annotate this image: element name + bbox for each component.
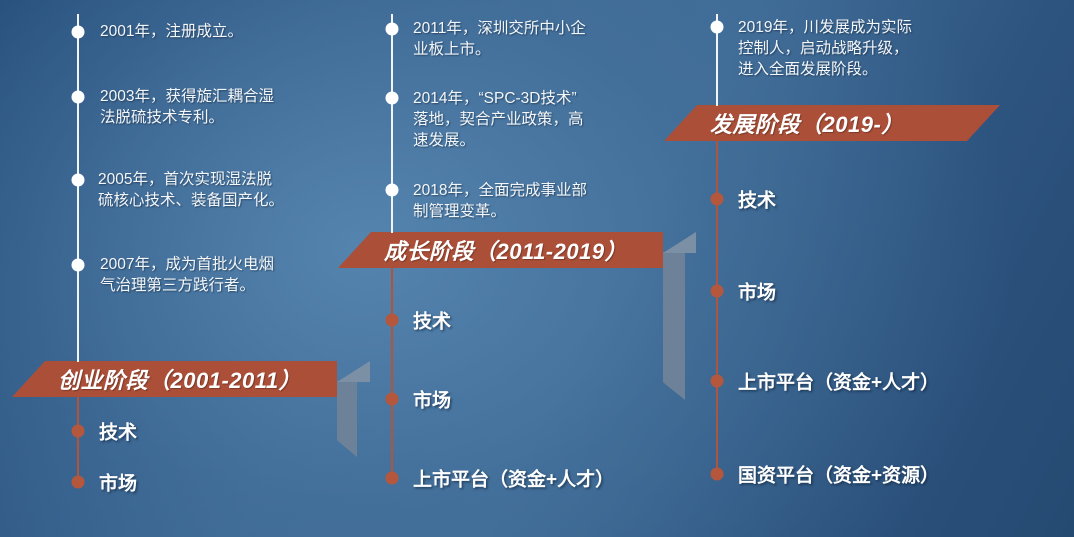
kpi-dot[interactable]	[386, 393, 399, 406]
kpi-label: 市场	[99, 469, 137, 496]
timeline-dot[interactable]	[386, 184, 399, 197]
timeline-line-red-1	[77, 397, 79, 482]
kpi-dot[interactable]	[711, 375, 724, 388]
milestone-note: 2018年，全面完成事业部 制管理变革。	[413, 180, 653, 222]
timeline-line-red-3	[716, 141, 718, 477]
timeline-dot[interactable]	[386, 92, 399, 105]
timeline-dot[interactable]	[711, 21, 724, 34]
kpi-dot[interactable]	[711, 285, 724, 298]
milestone-note: 2014年，“SPC-3D技术” 落地，契合产业政策，高 速发展。	[413, 88, 653, 151]
kpi-label: 上市平台（资金+人才）	[413, 465, 614, 492]
stage-banner-1[interactable]: 创业阶段（2001-2011）	[12, 361, 337, 397]
kpi-label: 上市平台（资金+人才）	[738, 368, 939, 395]
kpi-dot[interactable]	[72, 425, 85, 438]
stage-banner-3-label: 发展阶段（2019-）	[710, 107, 904, 139]
kpi-dot[interactable]	[72, 476, 85, 489]
milestone-note: 2005年，首次实现湿法脱 硫核心技术、装备国产化。	[98, 169, 338, 211]
timeline-line-white-1	[77, 14, 79, 362]
kpi-dot[interactable]	[386, 472, 399, 485]
milestone-note: 2007年，成为首批火电烟 气治理第三方践行者。	[100, 254, 330, 296]
step-riser-stage1	[337, 381, 357, 457]
stage-banner-3[interactable]: 发展阶段（2019-）	[664, 105, 1000, 141]
milestone-note: 2001年，注册成立。	[100, 21, 330, 42]
stage-banner-2[interactable]: 成长阶段（2011-2019）	[338, 232, 663, 268]
milestone-note: 2003年，获得旋汇耦合湿 法脱硫技术专利。	[100, 86, 330, 128]
kpi-label: 技术	[413, 307, 451, 334]
milestone-note: 2019年，川发展成为实际 控制人，启动战略升级， 进入全面发展阶段。	[738, 17, 988, 80]
timeline-line-red-2	[391, 268, 393, 482]
kpi-label: 国资平台（资金+资源）	[738, 461, 939, 488]
timeline-dot[interactable]	[386, 23, 399, 36]
kpi-label: 技术	[738, 186, 776, 213]
kpi-label: 市场	[738, 278, 776, 305]
kpi-dot[interactable]	[711, 193, 724, 206]
step-riser-top-stage2	[663, 232, 696, 253]
kpi-dot[interactable]	[386, 314, 399, 327]
milestone-note: 2011年，深圳交所中小企 业板上市。	[413, 18, 653, 60]
timeline-dot[interactable]	[72, 259, 85, 272]
timeline-slide: 创业阶段（2001-2011） 成长阶段（2011-2019） 发展阶段（201…	[0, 0, 1074, 537]
step-riser-top-stage1	[337, 361, 370, 382]
timeline-line-white-2	[391, 14, 393, 233]
kpi-dot[interactable]	[711, 468, 724, 481]
timeline-dot[interactable]	[72, 91, 85, 104]
stage-banner-1-label: 创业阶段（2001-2011）	[58, 363, 301, 395]
kpi-label: 技术	[99, 418, 137, 445]
timeline-dot[interactable]	[72, 174, 85, 187]
stage-banner-2-label: 成长阶段（2011-2019）	[384, 234, 627, 266]
kpi-label: 市场	[413, 386, 451, 413]
step-riser-stage2	[663, 252, 685, 400]
timeline-dot[interactable]	[72, 26, 85, 39]
